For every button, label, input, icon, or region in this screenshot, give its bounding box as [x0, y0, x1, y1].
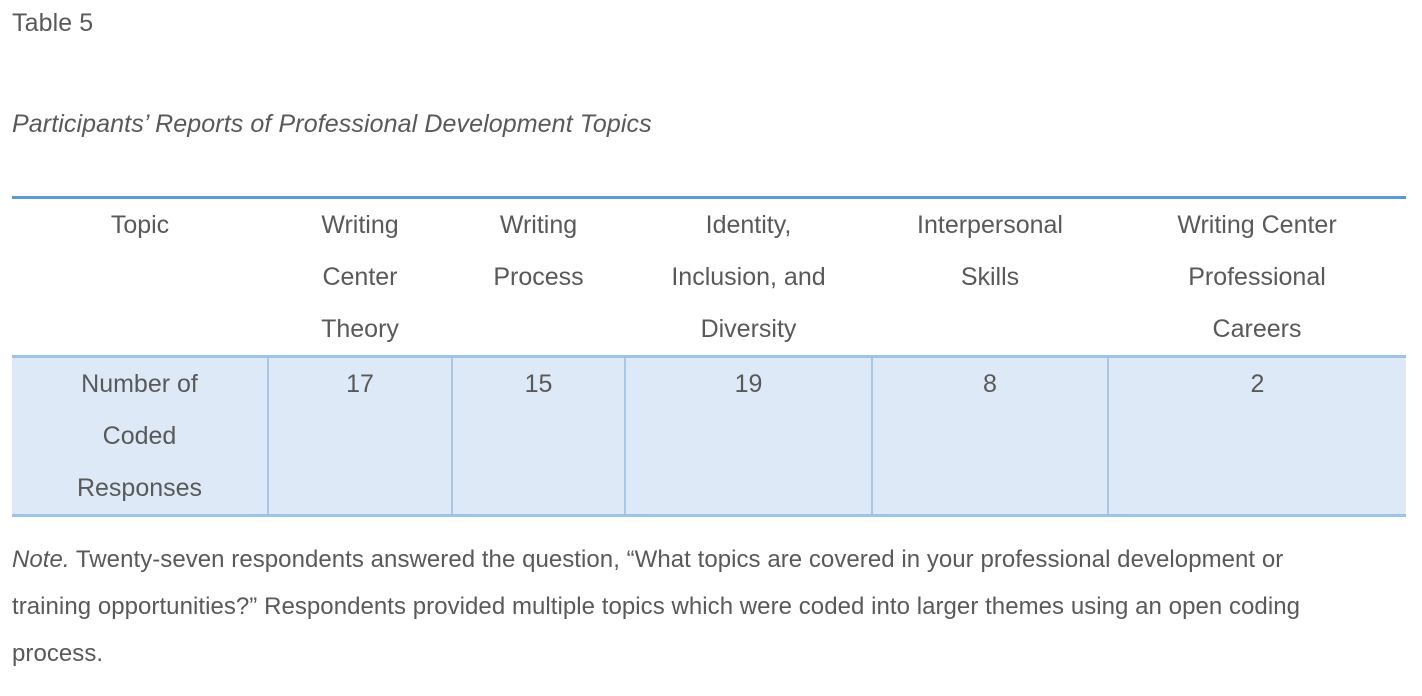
cell-line: Theory — [268, 303, 452, 355]
note-text: Twenty-seven respondents answered the qu… — [12, 546, 1300, 667]
column-header-interpersonal-skills: InterpersonalSkills — [872, 198, 1108, 357]
cell-line: Number of — [12, 358, 267, 410]
column-header-topic: Topic — [12, 198, 268, 357]
cell-line: Inclusion, and — [625, 251, 872, 303]
table-header: Topic WritingCenterTheory WritingProcess… — [12, 198, 1406, 357]
cell-line: Topic — [12, 199, 268, 251]
cell-writing-center-theory: 17 — [268, 357, 452, 516]
cell-identity-inclusion-diversity: 19 — [625, 357, 872, 516]
cell-interpersonal-skills: 8 — [872, 357, 1108, 516]
cell-line: Coded — [12, 410, 267, 462]
cell-line: 19 — [626, 358, 871, 410]
cell-writing-process: 15 — [452, 357, 625, 516]
table-number-label: Table 5 — [12, 5, 93, 41]
cell-line: Center — [268, 251, 452, 303]
cell-line: Writing — [268, 199, 452, 251]
column-header-writing-center-professional-careers: Writing CenterProfessionalCareers — [1108, 198, 1406, 357]
cell-line: Process — [452, 251, 625, 303]
cell-line: 2 — [1109, 358, 1406, 410]
table-header-row: Topic WritingCenterTheory WritingProcess… — [12, 198, 1406, 357]
cell-line: Skills — [872, 251, 1108, 303]
cell-line: 15 — [453, 358, 624, 410]
cell-line: 17 — [269, 358, 451, 410]
row-header-number-of-coded-responses: Number ofCodedResponses — [12, 357, 268, 516]
table-body: Number ofCodedResponses 17 15 19 8 2 — [12, 357, 1406, 516]
cell-line: Interpersonal — [872, 199, 1108, 251]
cell-line: Professional — [1108, 251, 1406, 303]
table-row: Number ofCodedResponses 17 15 19 8 2 — [12, 357, 1406, 516]
cell-line: Identity, — [625, 199, 872, 251]
data-table: Topic WritingCenterTheory WritingProcess… — [12, 196, 1406, 517]
table-note: Note. Twenty-seven respondents answered … — [12, 536, 1352, 677]
table-figure-page: Table 5 Participants’ Reports of Profess… — [0, 0, 1422, 696]
cell-line: 8 — [873, 358, 1107, 410]
cell-line: Writing — [452, 199, 625, 251]
cell-line: Diversity — [625, 303, 872, 355]
table-title: Participants’ Reports of Professional De… — [12, 106, 652, 142]
cell-line: Writing Center — [1108, 199, 1406, 251]
column-header-writing-process: WritingProcess — [452, 198, 625, 357]
note-label: Note. — [12, 546, 70, 573]
cell-line: Careers — [1108, 303, 1406, 355]
column-header-identity-inclusion-diversity: Identity,Inclusion, andDiversity — [625, 198, 872, 357]
cell-line: Responses — [12, 462, 267, 514]
cell-writing-center-professional-careers: 2 — [1108, 357, 1406, 516]
column-header-writing-center-theory: WritingCenterTheory — [268, 198, 452, 357]
